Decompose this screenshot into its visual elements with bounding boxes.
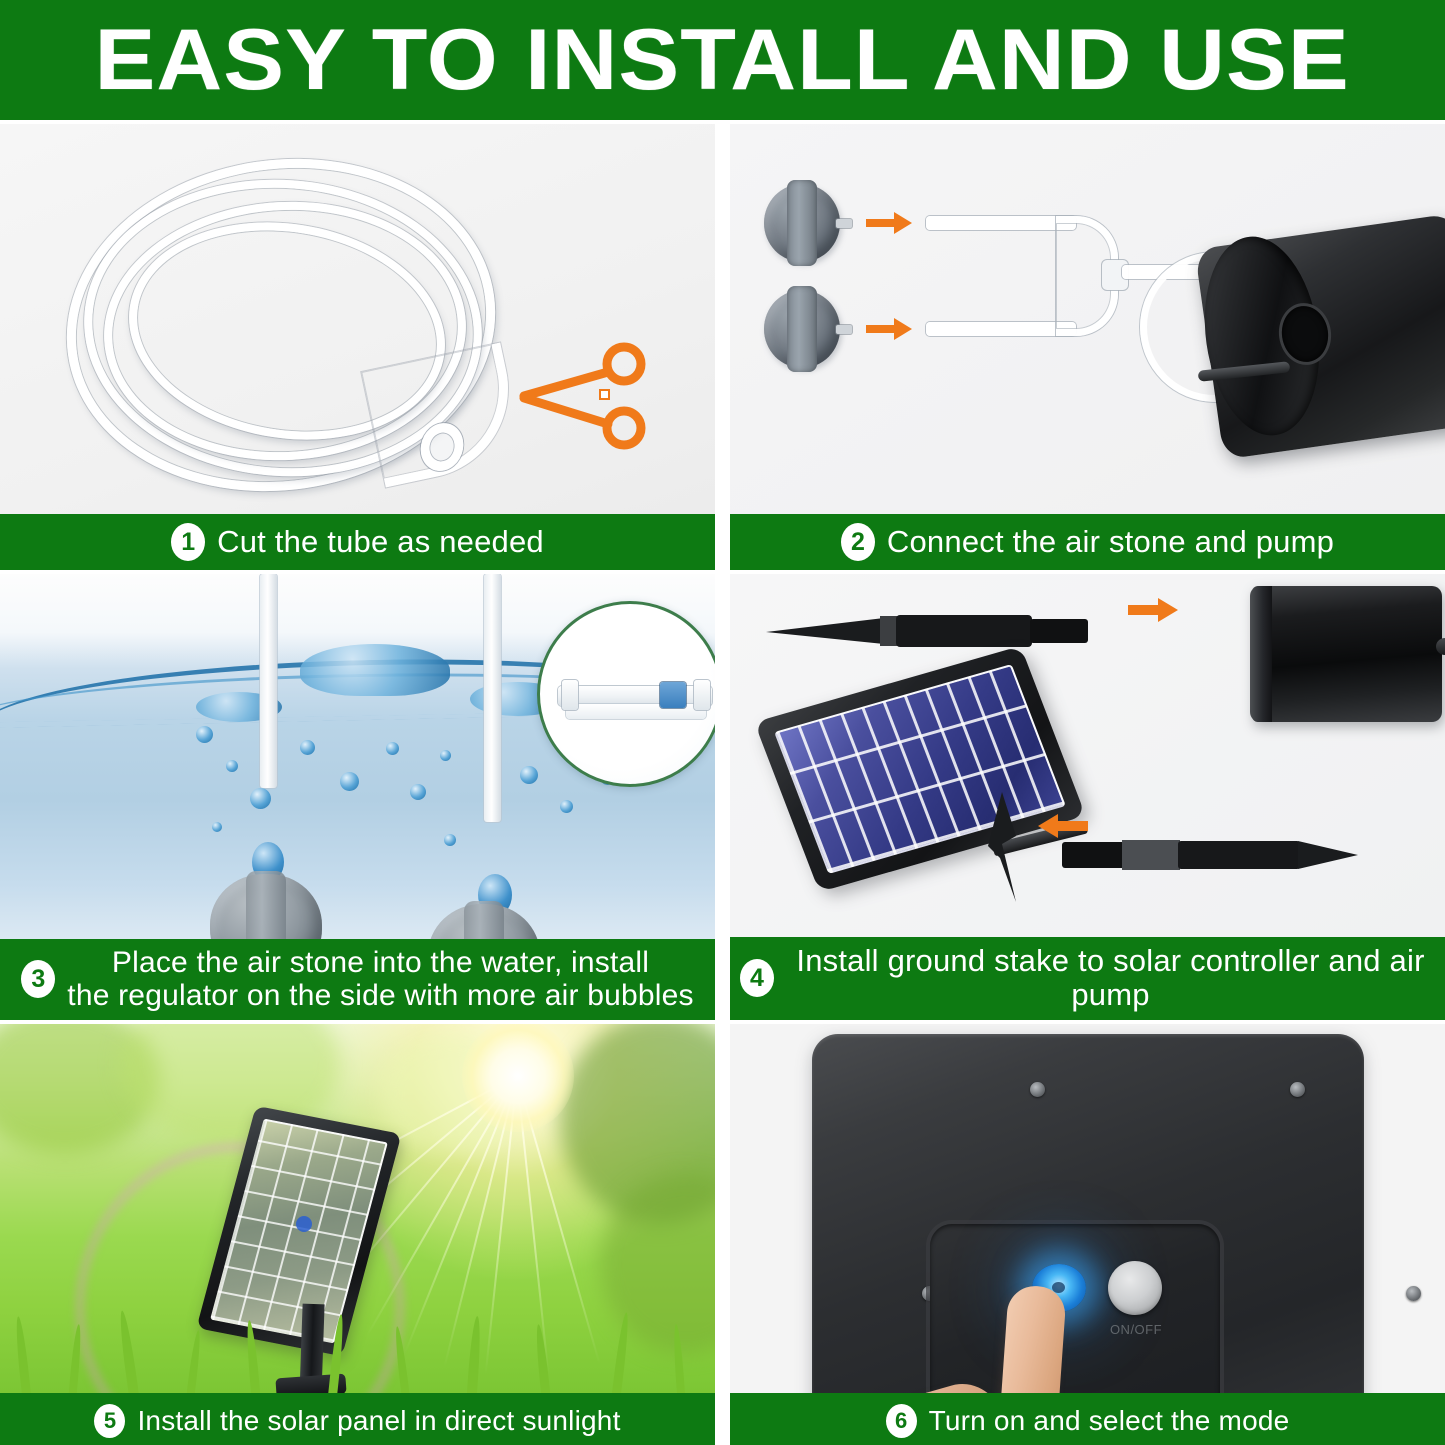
regulator-slider [660, 682, 686, 708]
step-3-image [0, 574, 715, 939]
step-4-caption: 4 Install ground stake to solar controll… [730, 937, 1445, 1020]
step-caption-text: Connect the air stone and pump [887, 525, 1334, 560]
screw [1406, 1286, 1421, 1301]
orange-arrow-right-upper-icon [866, 210, 912, 236]
header-banner: EASY TO INSTALL AND USE [0, 0, 1445, 120]
air-stone-upper [764, 184, 840, 262]
step-6-image: ON/OFF [730, 1024, 1445, 1393]
panel-indicator-dot [296, 1216, 312, 1232]
tube-upper-run [926, 216, 1076, 230]
inset-collar-right [694, 680, 710, 710]
solar-panel-stake-blade-icon [976, 788, 1032, 908]
step-3-caption: 3 Place the air stone into the water, in… [0, 939, 715, 1020]
bubble [560, 800, 573, 813]
step-number-badge: 5 [94, 1404, 125, 1438]
bubble [212, 822, 222, 832]
air-stone-right [428, 904, 540, 939]
step-number-badge: 6 [886, 1404, 917, 1438]
grass-blade [65, 1324, 83, 1393]
bubble [340, 772, 359, 791]
air-stone-lower [764, 290, 840, 368]
tube-lower-run [926, 322, 1076, 336]
bubble [250, 788, 271, 809]
grass-blade [606, 1312, 631, 1393]
onoff-button-label: ON/OFF [1106, 1322, 1166, 1337]
white-hose-left [260, 574, 277, 788]
bubble [440, 750, 451, 761]
air-pump-cap [1250, 586, 1272, 722]
step-caption-text: Install ground stake to solar controller… [786, 944, 1435, 1013]
screw [1290, 1082, 1305, 1097]
step-panel-4: 4 Install ground stake to solar controll… [730, 574, 1445, 1020]
grass-blade [14, 1316, 35, 1393]
sun-flare [462, 1024, 574, 1132]
regulator-inset-callout [537, 601, 715, 787]
onoff-button[interactable] [1108, 1261, 1162, 1315]
bubble [196, 726, 213, 743]
ground-stake-bottom-icon [1062, 832, 1372, 878]
step-number-badge: 4 [740, 959, 774, 997]
air-stone-left [210, 874, 322, 939]
step-panel-1: 1 Cut the tube as needed [0, 124, 715, 570]
bubble [410, 784, 426, 800]
step-panel-5: 5 Install the solar panel in direct sunl… [0, 1024, 715, 1445]
infographic-page: EASY TO INSTALL AND USE [0, 0, 1445, 1445]
step-5-caption: 5 Install the solar panel in direct sunl… [0, 1393, 715, 1445]
step-number-badge: 2 [841, 523, 875, 561]
step-panel-6: ON/OFF 6 Turn on and select the mode [730, 1024, 1445, 1445]
step-caption-line-2: the regulator on the side with more air … [67, 979, 693, 1013]
controller-recessed-panel [930, 1224, 1220, 1393]
step-caption-text: Turn on and select the mode [929, 1405, 1290, 1436]
inset-collar-left [562, 680, 578, 710]
inset-tube-upper [558, 686, 712, 706]
bubble [386, 742, 399, 755]
step-number-badge: 1 [171, 523, 205, 561]
page-title: EASY TO INSTALL AND USE [95, 17, 1350, 103]
step-5-image [0, 1024, 715, 1393]
step-1-caption: 1 Cut the tube as needed [0, 514, 715, 570]
orange-arrow-right-icon [1128, 596, 1178, 624]
white-hose-right [484, 574, 501, 822]
grass-blade [464, 1316, 483, 1393]
step-panel-2: 2 Connect the air stone and pump [730, 124, 1445, 570]
water-splash-crest [300, 644, 450, 696]
step-caption-text: Install the solar panel in direct sunlig… [137, 1405, 620, 1436]
steps-grid: 1 Cut the tube as needed [0, 124, 1445, 1445]
ground-stake-top-icon [766, 606, 1106, 654]
orange-arrow-right-lower-icon [866, 316, 912, 342]
step-number-badge: 3 [21, 960, 55, 998]
step-1-image [0, 124, 715, 514]
step-6-caption: 6 Turn on and select the mode [730, 1393, 1445, 1445]
bubble [444, 834, 456, 846]
bubble [226, 760, 238, 772]
step-2-image [730, 124, 1445, 514]
scissors-icon [512, 336, 662, 456]
bubble [520, 766, 538, 784]
solar-panel [754, 646, 1086, 892]
step-caption-line-1: Place the air stone into the water, inst… [67, 946, 693, 980]
screw [1030, 1082, 1045, 1097]
bubble [300, 740, 315, 755]
step-2-caption: 2 Connect the air stone and pump [730, 514, 1445, 570]
step-4-image [730, 574, 1445, 937]
step-caption-text: Cut the tube as needed [217, 525, 544, 560]
step-panel-3: 3 Place the air stone into the water, in… [0, 574, 715, 1020]
air-pump-cylinder [1252, 586, 1442, 722]
